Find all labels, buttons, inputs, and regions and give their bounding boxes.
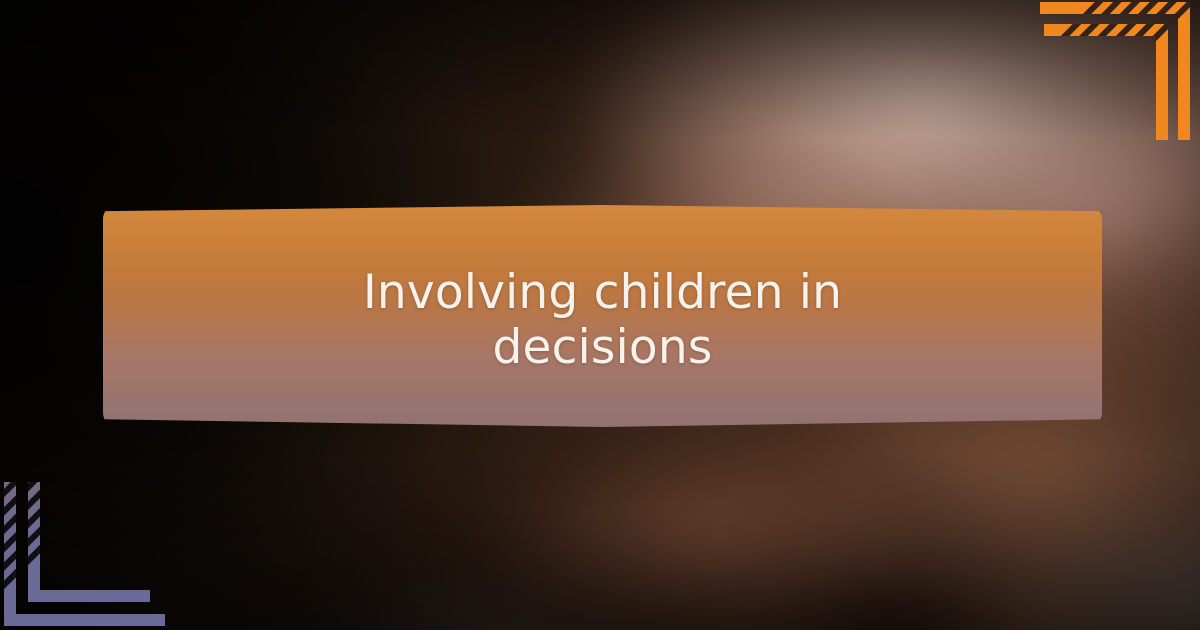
poster-canvas: Involving children in decisions — [0, 0, 1200, 630]
page-title: Involving children in decisions — [343, 265, 863, 376]
title-banner-text-area: Involving children in decisions — [103, 205, 1102, 427]
title-banner: Involving children in decisions — [103, 205, 1102, 427]
